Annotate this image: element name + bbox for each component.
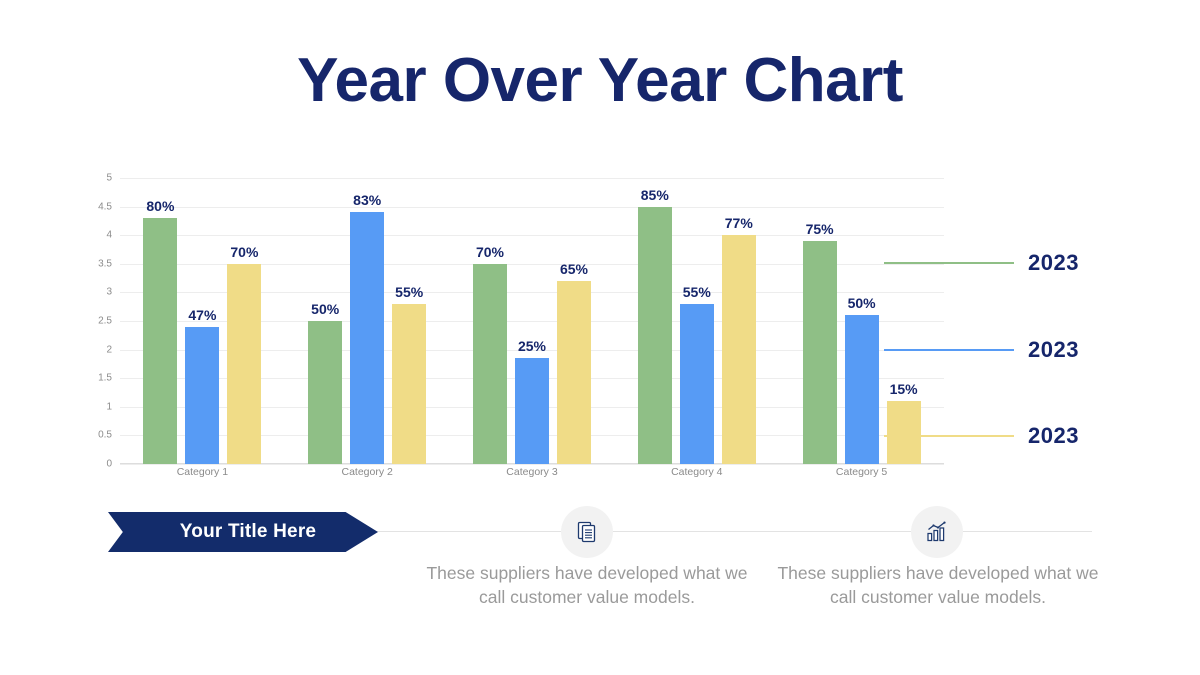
bar-groups: 80%47%70%Category 150%83%55%Category 270… <box>120 178 944 464</box>
slide-canvas: Year Over Year Chart 54.543.532.521.510.… <box>0 0 1200 675</box>
y-axis-tick-label: 0 <box>72 459 120 470</box>
y-axis-tick-label: 4.5 <box>72 201 120 212</box>
y-axis-tick-label: 4 <box>72 230 120 241</box>
category-label: Category 1 <box>120 466 285 478</box>
legend-label: 2023 <box>1028 250 1079 276</box>
category-label: Category 5 <box>779 466 944 478</box>
bar-wrapper: 85% <box>638 207 672 464</box>
bar-wrapper: 75% <box>803 241 837 464</box>
bar-wrapper: 47% <box>185 327 219 464</box>
bar[interactable] <box>392 304 426 464</box>
bar[interactable] <box>515 358 549 464</box>
document-icon <box>574 519 600 545</box>
category-label: Category 4 <box>614 466 779 478</box>
legend-label: 2023 <box>1028 337 1079 363</box>
bar[interactable] <box>350 212 384 464</box>
bar-wrapper: 80% <box>143 218 177 464</box>
y-axis-tick-label: 3.5 <box>72 258 120 269</box>
bar-wrapper: 77% <box>722 235 756 464</box>
page-title: Year Over Year Chart <box>0 44 1200 118</box>
bar-value-label: 85% <box>641 187 669 203</box>
bar-wrapper: 65% <box>557 281 591 464</box>
legend-color-line <box>884 262 1014 264</box>
node-caption-2: These suppliers have developed what we c… <box>768 561 1108 609</box>
bar-value-label: 50% <box>311 301 339 317</box>
gridline <box>120 464 944 465</box>
y-axis-tick-label: 3 <box>72 287 120 298</box>
bar-value-label: 15% <box>890 381 918 397</box>
bar-value-label: 55% <box>683 284 711 300</box>
legend-color-line <box>884 349 1014 351</box>
y-axis-tick-label: 2 <box>72 344 120 355</box>
plot-area: 54.543.532.521.510.50 80%47%70%Category … <box>120 178 944 464</box>
document-icon-node[interactable] <box>561 506 613 558</box>
bar[interactable] <box>845 315 879 464</box>
bar-chart-trend-icon <box>924 519 950 545</box>
y-axis-tick-label: 0.5 <box>72 430 120 441</box>
legend-color-line <box>884 435 1014 437</box>
bar-wrapper: 50% <box>845 315 879 464</box>
bar-value-label: 80% <box>146 198 174 214</box>
bar-wrapper: 70% <box>227 264 261 464</box>
bar[interactable] <box>722 235 756 464</box>
bar-group: 85%55%77%Category 4 <box>614 178 779 464</box>
bar-group: 75%50%15%Category 5 <box>779 178 944 464</box>
y-axis-tick-label: 2.5 <box>72 316 120 327</box>
bar-wrapper: 70% <box>473 264 507 464</box>
bar[interactable] <box>143 218 177 464</box>
bar-wrapper: 25% <box>515 358 549 464</box>
bar[interactable] <box>803 241 837 464</box>
legend-label: 2023 <box>1028 423 1079 449</box>
bar-chart: 54.543.532.521.510.50 80%47%70%Category … <box>120 178 944 464</box>
bar[interactable] <box>473 264 507 464</box>
category-label: Category 2 <box>285 466 450 478</box>
bar-value-label: 55% <box>395 284 423 300</box>
y-axis-tick-label: 1.5 <box>72 373 120 384</box>
bar-wrapper: 50% <box>308 321 342 464</box>
bar-group: 70%25%65%Category 3 <box>450 178 615 464</box>
bar-wrapper: 55% <box>392 304 426 464</box>
bar-value-label: 70% <box>230 244 258 260</box>
bar-value-label: 77% <box>725 215 753 231</box>
title-banner-label: Your Title Here <box>180 521 316 543</box>
bar-group: 80%47%70%Category 1 <box>120 178 285 464</box>
legend-item[interactable]: 2023 <box>884 250 1079 276</box>
bar-chart-trend-icon-node[interactable] <box>911 506 963 558</box>
bar-value-label: 47% <box>188 307 216 323</box>
category-label: Category 3 <box>450 466 615 478</box>
bar-group: 50%83%55%Category 2 <box>285 178 450 464</box>
y-axis-tick-label: 5 <box>72 173 120 184</box>
legend-item[interactable]: 2023 <box>884 423 1079 449</box>
node-caption-1: These suppliers have developed what we c… <box>417 561 757 609</box>
bar-wrapper: 83% <box>350 212 384 464</box>
bar[interactable] <box>185 327 219 464</box>
y-axis-tick-label: 1 <box>72 401 120 412</box>
bar[interactable] <box>227 264 261 464</box>
bar[interactable] <box>680 304 714 464</box>
bar[interactable] <box>638 207 672 464</box>
title-banner[interactable]: Your Title Here <box>108 512 378 552</box>
bar-value-label: 50% <box>848 295 876 311</box>
legend-item[interactable]: 2023 <box>884 337 1079 363</box>
bar[interactable] <box>308 321 342 464</box>
bar[interactable] <box>557 281 591 464</box>
bar-value-label: 70% <box>476 244 504 260</box>
bar-value-label: 25% <box>518 338 546 354</box>
bar-value-label: 75% <box>806 221 834 237</box>
bar-value-label: 65% <box>560 261 588 277</box>
bar-value-label: 83% <box>353 192 381 208</box>
bar-wrapper: 55% <box>680 304 714 464</box>
